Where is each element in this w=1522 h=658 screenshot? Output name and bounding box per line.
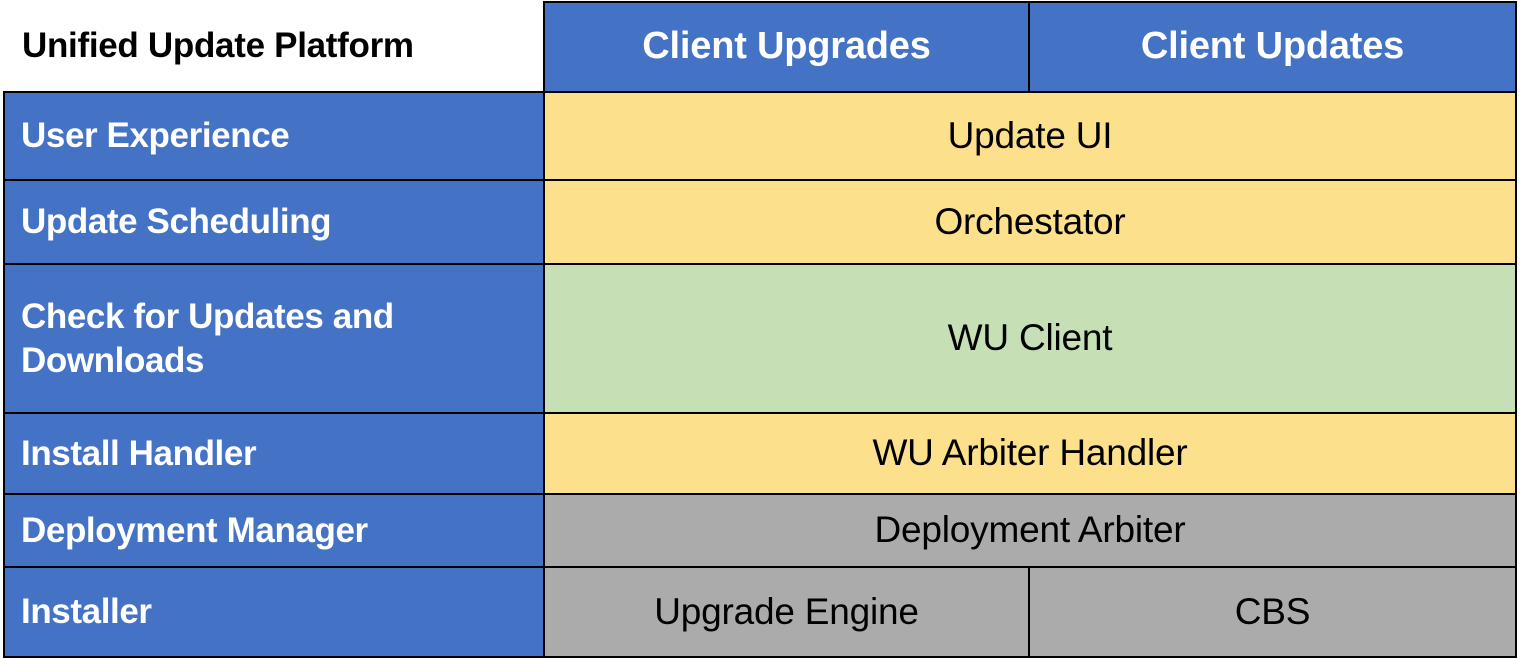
component-cell-deployment-arbiter: Deployment Arbiter bbox=[544, 494, 1516, 567]
table-row: Check for Updates and Downloads WU Clien… bbox=[4, 264, 1516, 413]
component-label: Orchestator bbox=[934, 201, 1125, 242]
component-cell-wu-client: WU Client bbox=[544, 264, 1516, 413]
column-header-label: Client Updates bbox=[1141, 25, 1404, 67]
component-cell-orchestator: Orchestator bbox=[544, 180, 1516, 264]
component-label: Upgrade Engine bbox=[654, 591, 919, 632]
component-cell-wu-arbiter-handler: WU Arbiter Handler bbox=[544, 413, 1516, 494]
row-label-install-handler: Install Handler bbox=[4, 413, 544, 494]
component-label: WU Arbiter Handler bbox=[872, 432, 1187, 473]
row-label-text: User Experience bbox=[21, 114, 535, 158]
row-label-installer: Installer bbox=[4, 567, 544, 657]
component-label: CBS bbox=[1235, 591, 1310, 632]
row-label-text: Installer bbox=[21, 590, 535, 634]
component-label: WU Client bbox=[948, 317, 1113, 358]
platform-title-cell: Unified Update Platform bbox=[4, 2, 544, 92]
row-label-text: Deployment Manager bbox=[21, 509, 535, 553]
table-row: Deployment Manager Deployment Arbiter bbox=[4, 494, 1516, 567]
column-header-client-upgrades: Client Upgrades bbox=[544, 2, 1029, 92]
row-label-text: Update Scheduling bbox=[21, 200, 535, 244]
table-row: User Experience Update UI bbox=[4, 92, 1516, 180]
component-cell-upgrade-engine: Upgrade Engine bbox=[544, 567, 1029, 657]
component-label: Deployment Arbiter bbox=[874, 509, 1185, 550]
row-label-text: Install Handler bbox=[21, 432, 535, 476]
page-title: Unified Update Platform bbox=[22, 26, 414, 65]
table-header-row: Unified Update Platform Client Upgrades … bbox=[4, 2, 1516, 92]
row-label-deployment-manager: Deployment Manager bbox=[4, 494, 544, 567]
component-cell-cbs: CBS bbox=[1029, 567, 1516, 657]
column-header-label: Client Upgrades bbox=[642, 25, 930, 67]
table-row: Update Scheduling Orchestator bbox=[4, 180, 1516, 264]
column-header-client-updates: Client Updates bbox=[1029, 2, 1516, 92]
row-label-check-for-updates-and-downloads: Check for Updates and Downloads bbox=[4, 264, 544, 413]
row-label-update-scheduling: Update Scheduling bbox=[4, 180, 544, 264]
table-row: Install Handler WU Arbiter Handler bbox=[4, 413, 1516, 494]
row-label-text: Check for Updates and Downloads bbox=[21, 295, 535, 383]
unified-update-platform-table: Unified Update Platform Client Upgrades … bbox=[3, 1, 1517, 658]
component-label: Update UI bbox=[948, 115, 1113, 156]
component-cell-update-ui: Update UI bbox=[544, 92, 1516, 180]
table-row: Installer Upgrade Engine CBS bbox=[4, 567, 1516, 657]
row-label-user-experience: User Experience bbox=[4, 92, 544, 180]
